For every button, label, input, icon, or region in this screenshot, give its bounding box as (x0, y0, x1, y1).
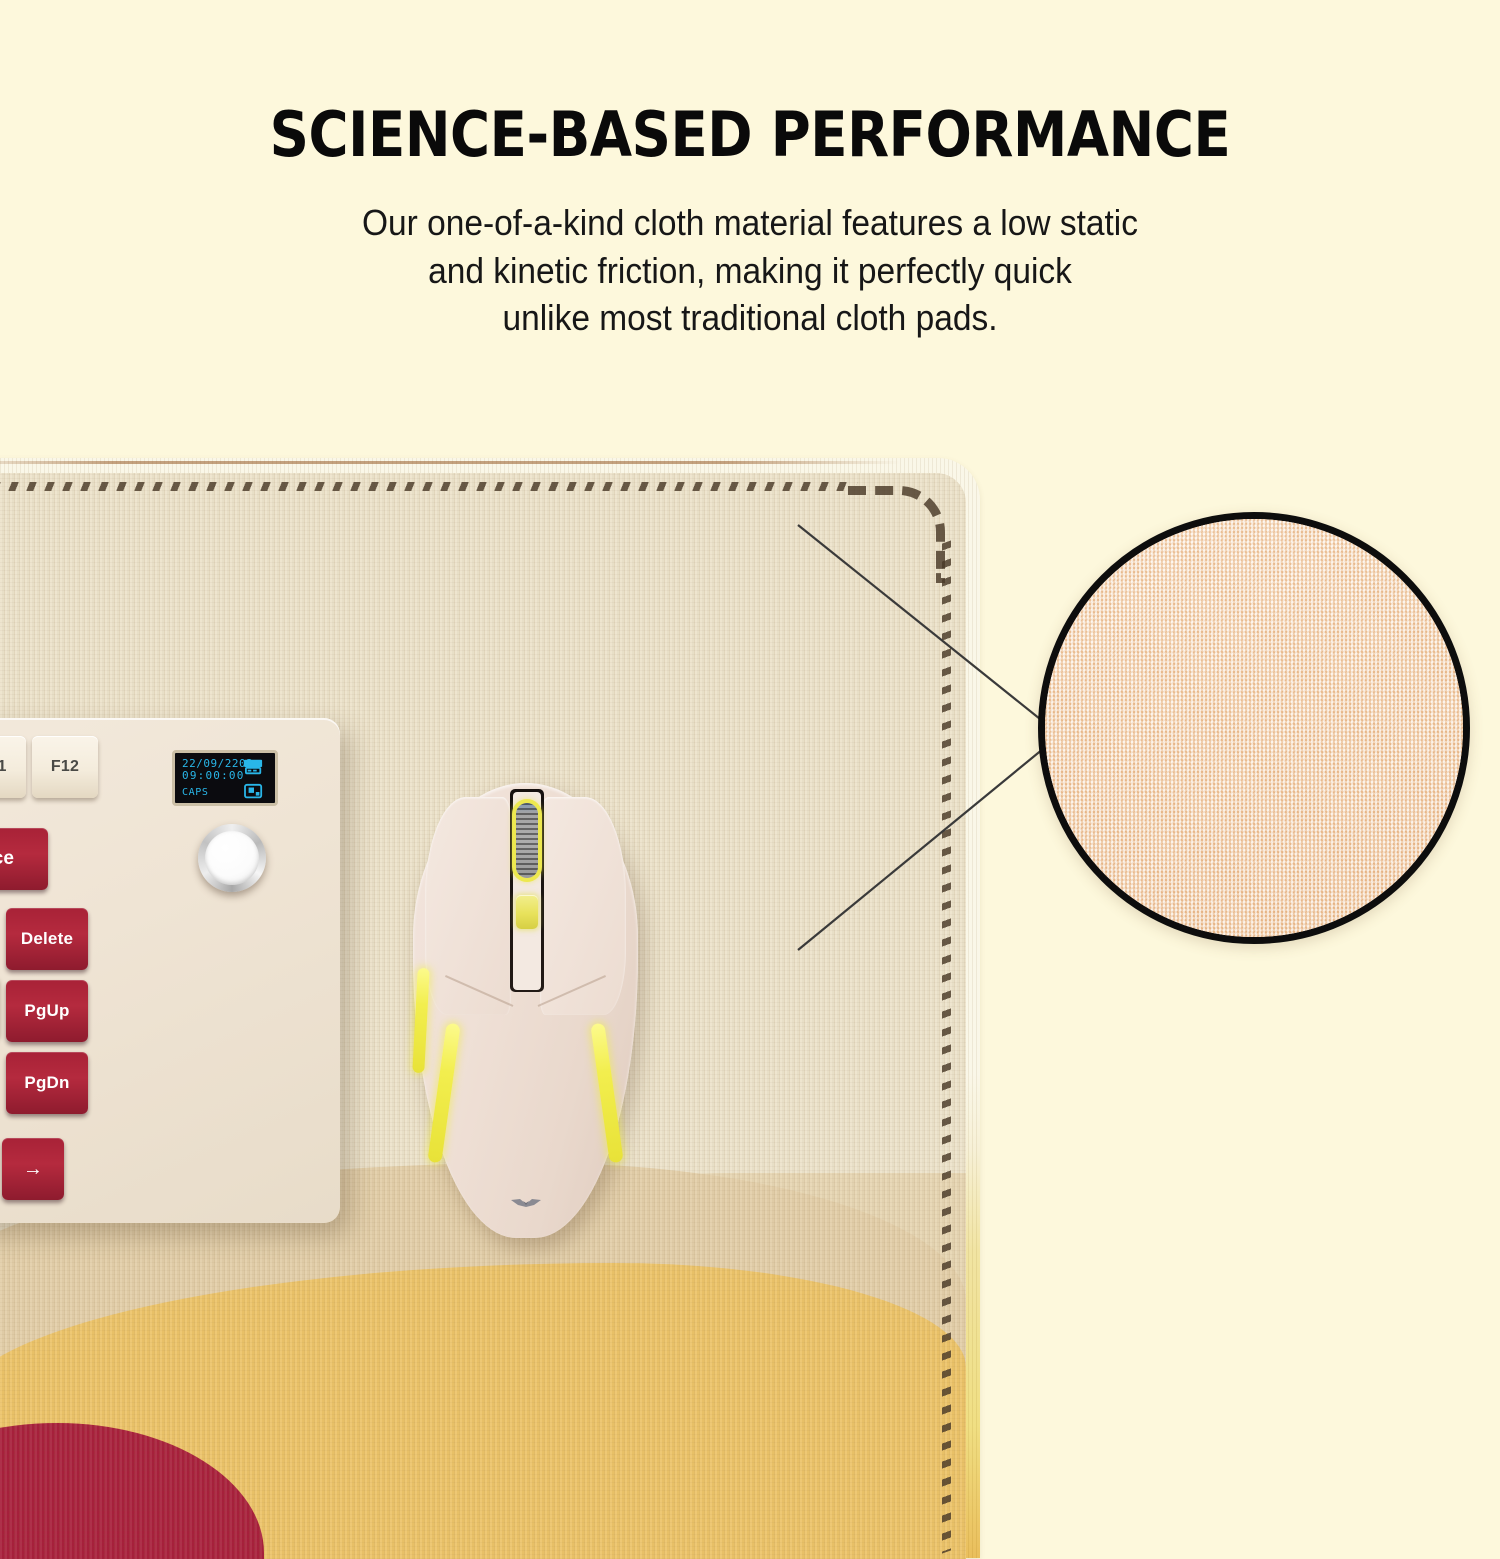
stitching-right (942, 540, 951, 1553)
key-pgup[interactable]: PgUp (6, 980, 88, 1042)
keyboard-oled-display: 22/09/2202 09:00:00 CAPS (172, 750, 278, 806)
wireless-icon (243, 783, 265, 801)
key-f11[interactable]: F11 (0, 736, 26, 798)
scroll-wheel[interactable] (516, 803, 538, 878)
mousepad-top-edge-line (0, 461, 900, 464)
key-backspace[interactable]: ←Backspace (0, 828, 48, 890)
key-pgdn[interactable]: PgDn (6, 1052, 88, 1114)
mechanical-keyboard: F11 F12 ←Backspace }] |\ ←┘Enter ⇧Shift … (0, 718, 340, 1223)
subcopy-line-3: unlike most traditional cloth pads. (53, 294, 1448, 342)
dpi-button[interactable] (516, 895, 538, 929)
stitching-top (0, 482, 858, 491)
key-f12[interactable]: F12 (32, 736, 98, 798)
page-subcopy: Our one-of-a-kind cloth material feature… (53, 199, 1448, 342)
mouse-right-button[interactable] (540, 797, 626, 1015)
wing-emblem-logo (510, 1196, 542, 1210)
key-delete[interactable]: Delete (6, 908, 88, 970)
gaming-mouse (413, 783, 638, 1238)
cloth-texture-grain (1038, 512, 1470, 944)
volume-knob[interactable] (198, 824, 266, 892)
subcopy-line-1: Our one-of-a-kind cloth material feature… (53, 199, 1448, 247)
key-arrow-right[interactable]: → (2, 1138, 64, 1200)
page-title: SCIENCE-BASED PERFORMANCE (90, 98, 1410, 171)
cloth-texture-magnifier (1038, 512, 1470, 944)
oled-status-icons (243, 758, 269, 806)
header-section: SCIENCE-BASED PERFORMANCE Our one-of-a-k… (0, 0, 1500, 440)
subcopy-line-2: and kinetic friction, making it perfectl… (53, 247, 1448, 295)
battery-icon (243, 758, 265, 776)
mouse-left-button[interactable] (425, 797, 511, 1015)
volume-knob-cap (205, 831, 259, 885)
